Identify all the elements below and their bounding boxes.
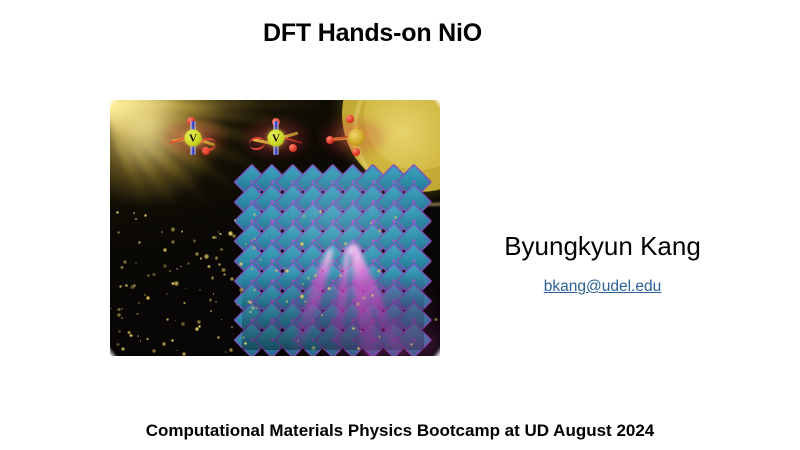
particle-dot	[166, 318, 169, 321]
particle-dot	[285, 269, 289, 273]
particle-dot	[212, 236, 215, 239]
particle-dot	[117, 231, 120, 234]
particle-dot	[357, 347, 360, 350]
cluster-vacancy-middle: V	[245, 116, 307, 160]
particle-dot	[133, 212, 135, 214]
author-name: Byungkyun Kang	[460, 231, 745, 261]
metal-atom-icon	[348, 129, 365, 146]
particle-dot	[117, 313, 121, 317]
slide-footer: Computational Materials Physics Bootcamp…	[0, 420, 800, 442]
particle-dot	[300, 242, 304, 246]
particle-dot	[236, 304, 238, 306]
particle-dot	[219, 233, 221, 235]
vacancy-site-label: V	[268, 130, 285, 147]
particle-dot	[218, 263, 221, 266]
crystal-lattice-illustration: V V	[110, 100, 440, 356]
particle-dot	[182, 352, 186, 356]
particle-dot	[121, 347, 125, 351]
author-email: bkang@udel.edu	[460, 277, 745, 296]
particle-dot	[378, 229, 381, 232]
particle-dot	[297, 340, 299, 342]
particle-dot	[302, 214, 306, 218]
particle-dot	[130, 285, 135, 290]
particle-dot	[176, 350, 177, 351]
particle-dot	[171, 227, 175, 231]
particle-dot	[240, 292, 242, 294]
oxygen-atom-icon	[289, 144, 297, 152]
particle-dot	[123, 260, 127, 264]
particle-dot	[136, 313, 139, 316]
particle-dot	[311, 346, 315, 350]
particle-dot	[410, 343, 412, 345]
particle-dot	[204, 254, 209, 259]
particle-dot	[378, 335, 381, 338]
particle-dot	[119, 285, 122, 288]
cluster-vacancy-left: V	[162, 116, 224, 160]
particle-dot	[370, 222, 372, 224]
particle-dot	[239, 262, 243, 266]
particle-dot	[253, 213, 256, 216]
particle-dot	[434, 318, 437, 321]
particle-dot	[176, 268, 178, 270]
particle-dot	[223, 273, 226, 276]
particle-dot	[199, 289, 201, 291]
slide: DFT Hands-on NiO	[0, 0, 800, 450]
particle-dot	[137, 335, 138, 336]
particle-dot	[253, 288, 257, 292]
particle-dot	[253, 238, 255, 240]
particle-dot	[125, 284, 128, 287]
particle-dot	[207, 265, 211, 269]
vacancy-site-label: V	[185, 130, 202, 147]
particle-dot	[174, 281, 179, 286]
particle-dot	[323, 349, 324, 350]
particle-dot	[171, 240, 175, 244]
particle-dot	[210, 310, 212, 312]
particle-dot	[146, 296, 150, 300]
particle-dot	[187, 262, 190, 265]
particle-dot	[356, 302, 360, 306]
particle-dot	[221, 268, 226, 273]
particle-dot	[135, 218, 137, 220]
particle-dot	[138, 302, 140, 304]
author-email-link[interactable]: bkang@udel.edu	[544, 278, 661, 295]
particle-dot	[307, 276, 310, 279]
particle-dot	[375, 285, 377, 287]
page-title: DFT Hands-on NiO	[0, 18, 745, 48]
particle-dot	[319, 210, 322, 213]
particle-dot	[116, 343, 120, 347]
particle-dot	[181, 322, 185, 326]
particle-dot	[121, 317, 123, 319]
particle-dot	[211, 276, 214, 279]
particle-dot	[229, 348, 233, 352]
particle-dot	[300, 294, 305, 299]
particle-dot	[129, 334, 133, 338]
particle-dot	[339, 274, 342, 277]
particle-dot	[195, 252, 199, 256]
particle-dot	[117, 308, 121, 312]
oxygen-atom-icon	[346, 115, 354, 123]
particle-dot	[162, 342, 166, 346]
particle-dot	[251, 268, 253, 270]
particle-dot	[121, 308, 123, 310]
particle-dot	[135, 262, 138, 265]
beam-right-glow	[320, 294, 440, 356]
cluster-metal-oxide-right	[322, 114, 384, 160]
oxygen-atom-icon	[326, 136, 334, 144]
figure-container: V V	[110, 100, 440, 356]
oxygen-atom-icon	[352, 148, 360, 156]
particle-dot	[284, 267, 286, 269]
